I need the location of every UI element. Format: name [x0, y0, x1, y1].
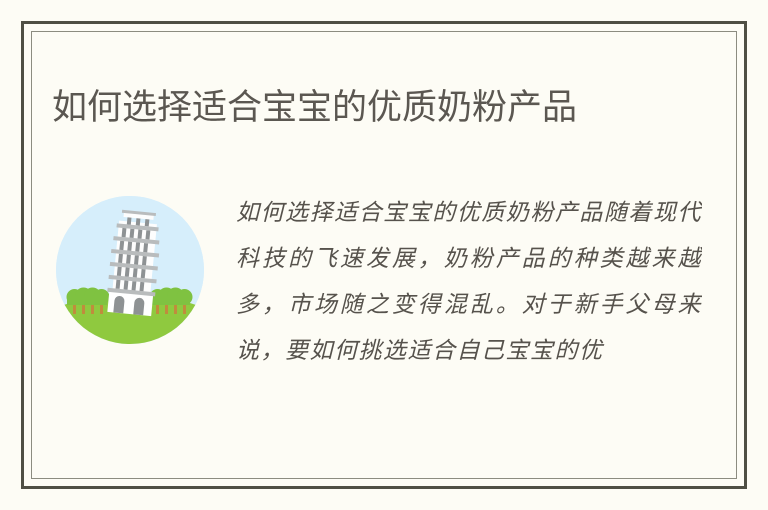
page-title: 如何选择适合宝宝的优质奶粉产品: [52, 79, 652, 136]
article-excerpt: 如何选择适合宝宝的优质奶粉产品随着现代科技的飞速发展，奶粉产品的种类越来越多，市…: [236, 190, 702, 374]
article-content: 如何选择适合宝宝的优质奶粉产品: [24, 24, 744, 486]
thumbnail-circle: [56, 196, 204, 344]
leaning-tower-of-pisa-icon: [56, 196, 204, 344]
article-body: 如何选择适合宝宝的优质奶粉产品随着现代科技的飞速发展，奶粉产品的种类越来越多，市…: [56, 190, 716, 470]
article-page: 如何选择适合宝宝的优质奶粉产品: [0, 0, 768, 510]
article-thumbnail[interactable]: [56, 196, 204, 344]
decorative-outer-frame: 如何选择适合宝宝的优质奶粉产品: [21, 21, 747, 489]
